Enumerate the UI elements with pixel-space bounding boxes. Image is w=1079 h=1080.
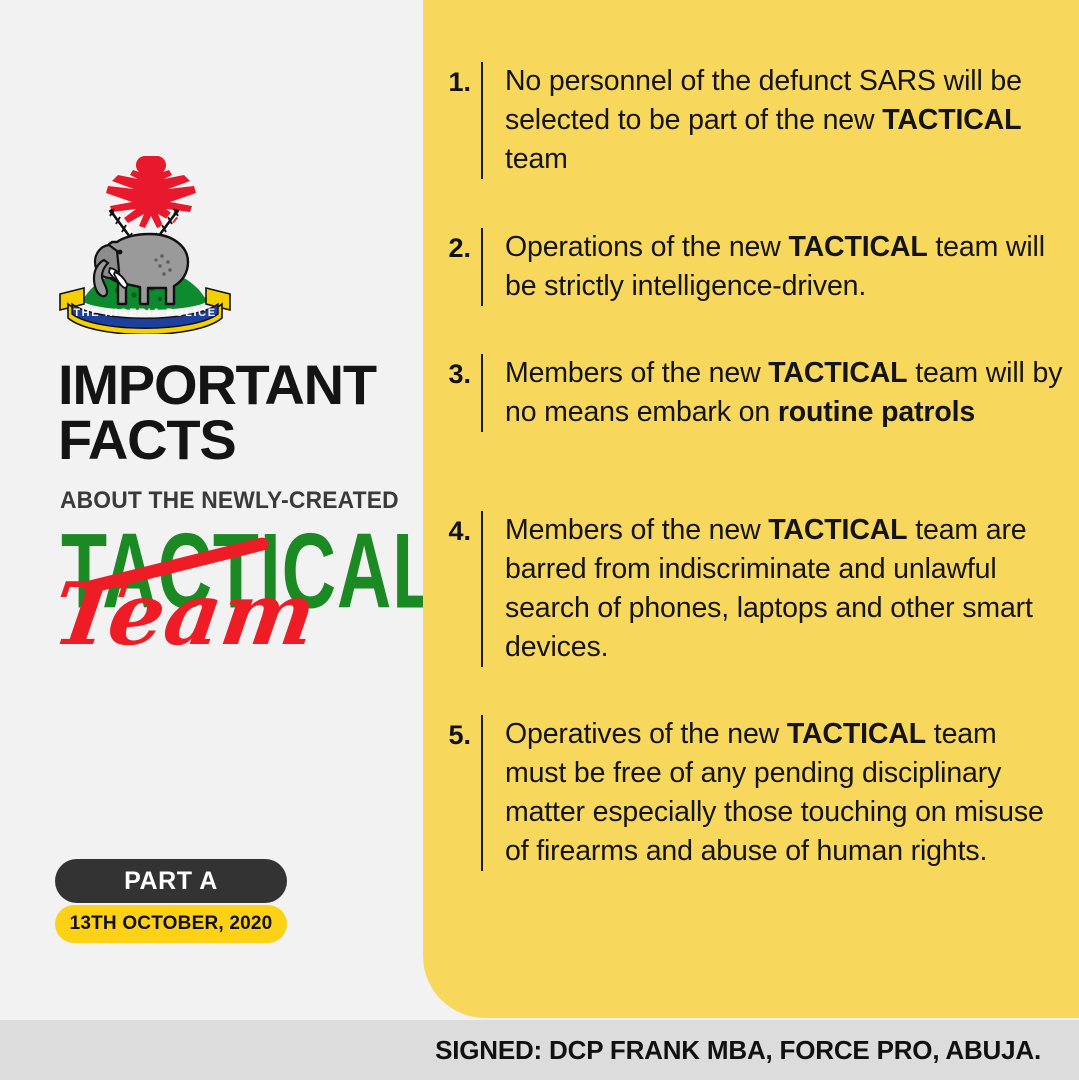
part-badge: PART A — [55, 859, 287, 903]
date-badge: 13TH OCTOBER, 2020 — [55, 905, 287, 943]
fact-number: 1. — [437, 62, 481, 102]
facts-list: 1.No personnel of the defunct SARS will … — [423, 0, 1079, 1018]
crest-banner-text: THE NIGERIA POLICE — [73, 307, 216, 319]
team-word: Team — [48, 572, 321, 658]
fact-divider-rule — [481, 354, 483, 432]
fact-divider-rule — [481, 715, 483, 871]
fact-number: 3. — [437, 354, 481, 394]
left-panel: THE NIGERIA POLICE IMPORTANT FACTS ABOUT… — [0, 0, 423, 1020]
nigeria-police-crest-icon: THE NIGERIA POLICE — [52, 138, 238, 334]
tactical-team-logotype: TACTICAL Team — [58, 518, 398, 678]
fact-item: 1.No personnel of the defunct SARS will … — [437, 62, 1063, 179]
fact-divider-rule — [481, 511, 483, 667]
fact-divider-rule — [481, 228, 483, 306]
headline-line-1: IMPORTANT — [58, 353, 376, 416]
fact-text: Members of the new TACTICAL team will by… — [505, 354, 1063, 432]
fact-item: 2.Operations of the new TACTICAL team wi… — [437, 228, 1063, 306]
fact-divider-rule — [481, 62, 483, 179]
infographic-poster: THE NIGERIA POLICE IMPORTANT FACTS ABOUT… — [0, 0, 1079, 1080]
fact-item: 4.Members of the new TACTICAL team are b… — [437, 511, 1063, 667]
footer-bar: SIGNED: DCP FRANK MBA, FORCE PRO, ABUJA. — [0, 1020, 1079, 1080]
fact-item: 5.Operatives of the new TACTICAL team mu… — [437, 715, 1063, 871]
fact-number: 5. — [437, 715, 481, 755]
facts-panel: 1.No personnel of the defunct SARS will … — [423, 0, 1079, 1018]
fact-text: Operatives of the new TACTICAL team must… — [505, 715, 1063, 871]
signature-text: SIGNED: DCP FRANK MBA, FORCE PRO, ABUJA. — [435, 1020, 1041, 1080]
fact-number: 2. — [437, 228, 481, 268]
fact-text: No personnel of the defunct SARS will be… — [505, 62, 1063, 179]
fact-item: 3.Members of the new TACTICAL team will … — [437, 354, 1063, 432]
headline-line-2: FACTS — [58, 413, 408, 468]
subtitle: ABOUT THE NEWLY-CREATED — [60, 487, 399, 515]
fact-text: Members of the new TACTICAL team are bar… — [505, 511, 1063, 667]
fact-text: Operations of the new TACTICAL team will… — [505, 228, 1063, 306]
page-title: IMPORTANT FACTS — [58, 358, 408, 468]
fact-number: 4. — [437, 511, 481, 551]
